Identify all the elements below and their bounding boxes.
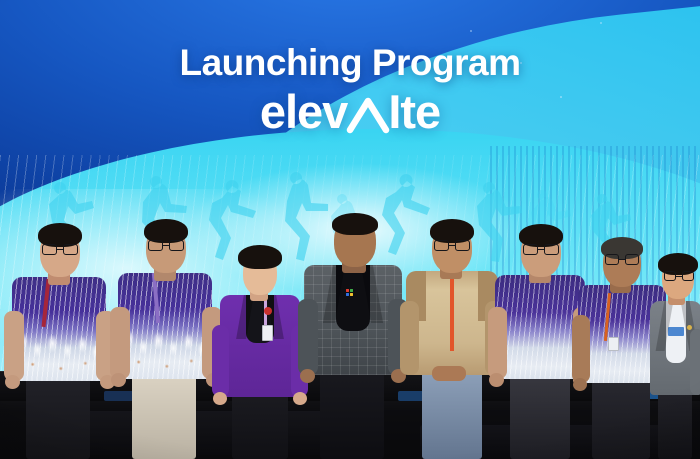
- person-3-arm-left: [212, 325, 229, 397]
- person-2-shirt: [118, 273, 212, 379]
- person-6-arm-left: [488, 307, 507, 379]
- person-4: [298, 185, 408, 459]
- person-4-shirt-logo: [346, 289, 349, 292]
- event-photo: Launching Program elev Ite: [0, 0, 700, 459]
- title-line-2-prefix: elev: [260, 88, 347, 135]
- person-6-hand-left: [489, 373, 504, 387]
- person-9-glasses-icon: [664, 271, 694, 281]
- person-7-arm-left: [572, 315, 590, 383]
- person-1-glasses-icon: [42, 244, 78, 255]
- person-1-shirt: [12, 277, 106, 381]
- person-1-hand-left: [5, 375, 20, 389]
- person-9-tshirt-print: [668, 327, 684, 336]
- title-line-2: elev Ite: [0, 88, 700, 135]
- person-3-hair-top: [238, 245, 282, 269]
- person-3-hand-left: [213, 392, 227, 405]
- person-1-legs: [26, 369, 90, 459]
- person-6-legs: [510, 369, 570, 459]
- person-3-skirt: [232, 387, 288, 459]
- person-2: [110, 187, 222, 459]
- person-9: [648, 227, 700, 459]
- person-4-hand-left: [300, 369, 315, 383]
- title-line-2-suffix: Ite: [388, 88, 440, 135]
- person-9-legs: [658, 385, 692, 459]
- person-1: [4, 191, 116, 459]
- person-6-glasses-icon: [523, 244, 559, 255]
- person-1-arm-left: [4, 311, 24, 381]
- backdrop-title-block: Launching Program elev Ite: [0, 44, 700, 135]
- person-7-legs: [592, 373, 650, 459]
- person-3-blazer: [220, 295, 300, 397]
- person-9-lapel-pin: [687, 325, 692, 330]
- person-2-arm-left: [110, 307, 130, 379]
- person-2-legs: [132, 367, 196, 459]
- person-5-clasped-hands: [432, 366, 466, 381]
- person-5-jacket-zipper: [450, 275, 454, 351]
- person-3-flower-pin: [264, 307, 272, 315]
- person-7-glasses-icon: [605, 254, 639, 265]
- person-9-arm-right: [690, 329, 700, 395]
- person-7-id-badge: [608, 337, 619, 351]
- person-4-legs: [320, 363, 384, 459]
- person-7-hand-left: [573, 378, 587, 391]
- person-3-id-badge: [262, 325, 273, 341]
- person-5-glasses-icon: [434, 240, 470, 251]
- person-4-arm-left: [298, 299, 318, 375]
- title-line-1: Launching Program: [0, 44, 700, 81]
- person-2-hand-left: [111, 373, 126, 387]
- person-5-arm-left: [400, 301, 419, 375]
- person-3: [212, 209, 308, 459]
- person-4-hair: [332, 213, 378, 235]
- elevaite-a-icon: [346, 95, 390, 135]
- person-2-glasses-icon: [148, 240, 184, 251]
